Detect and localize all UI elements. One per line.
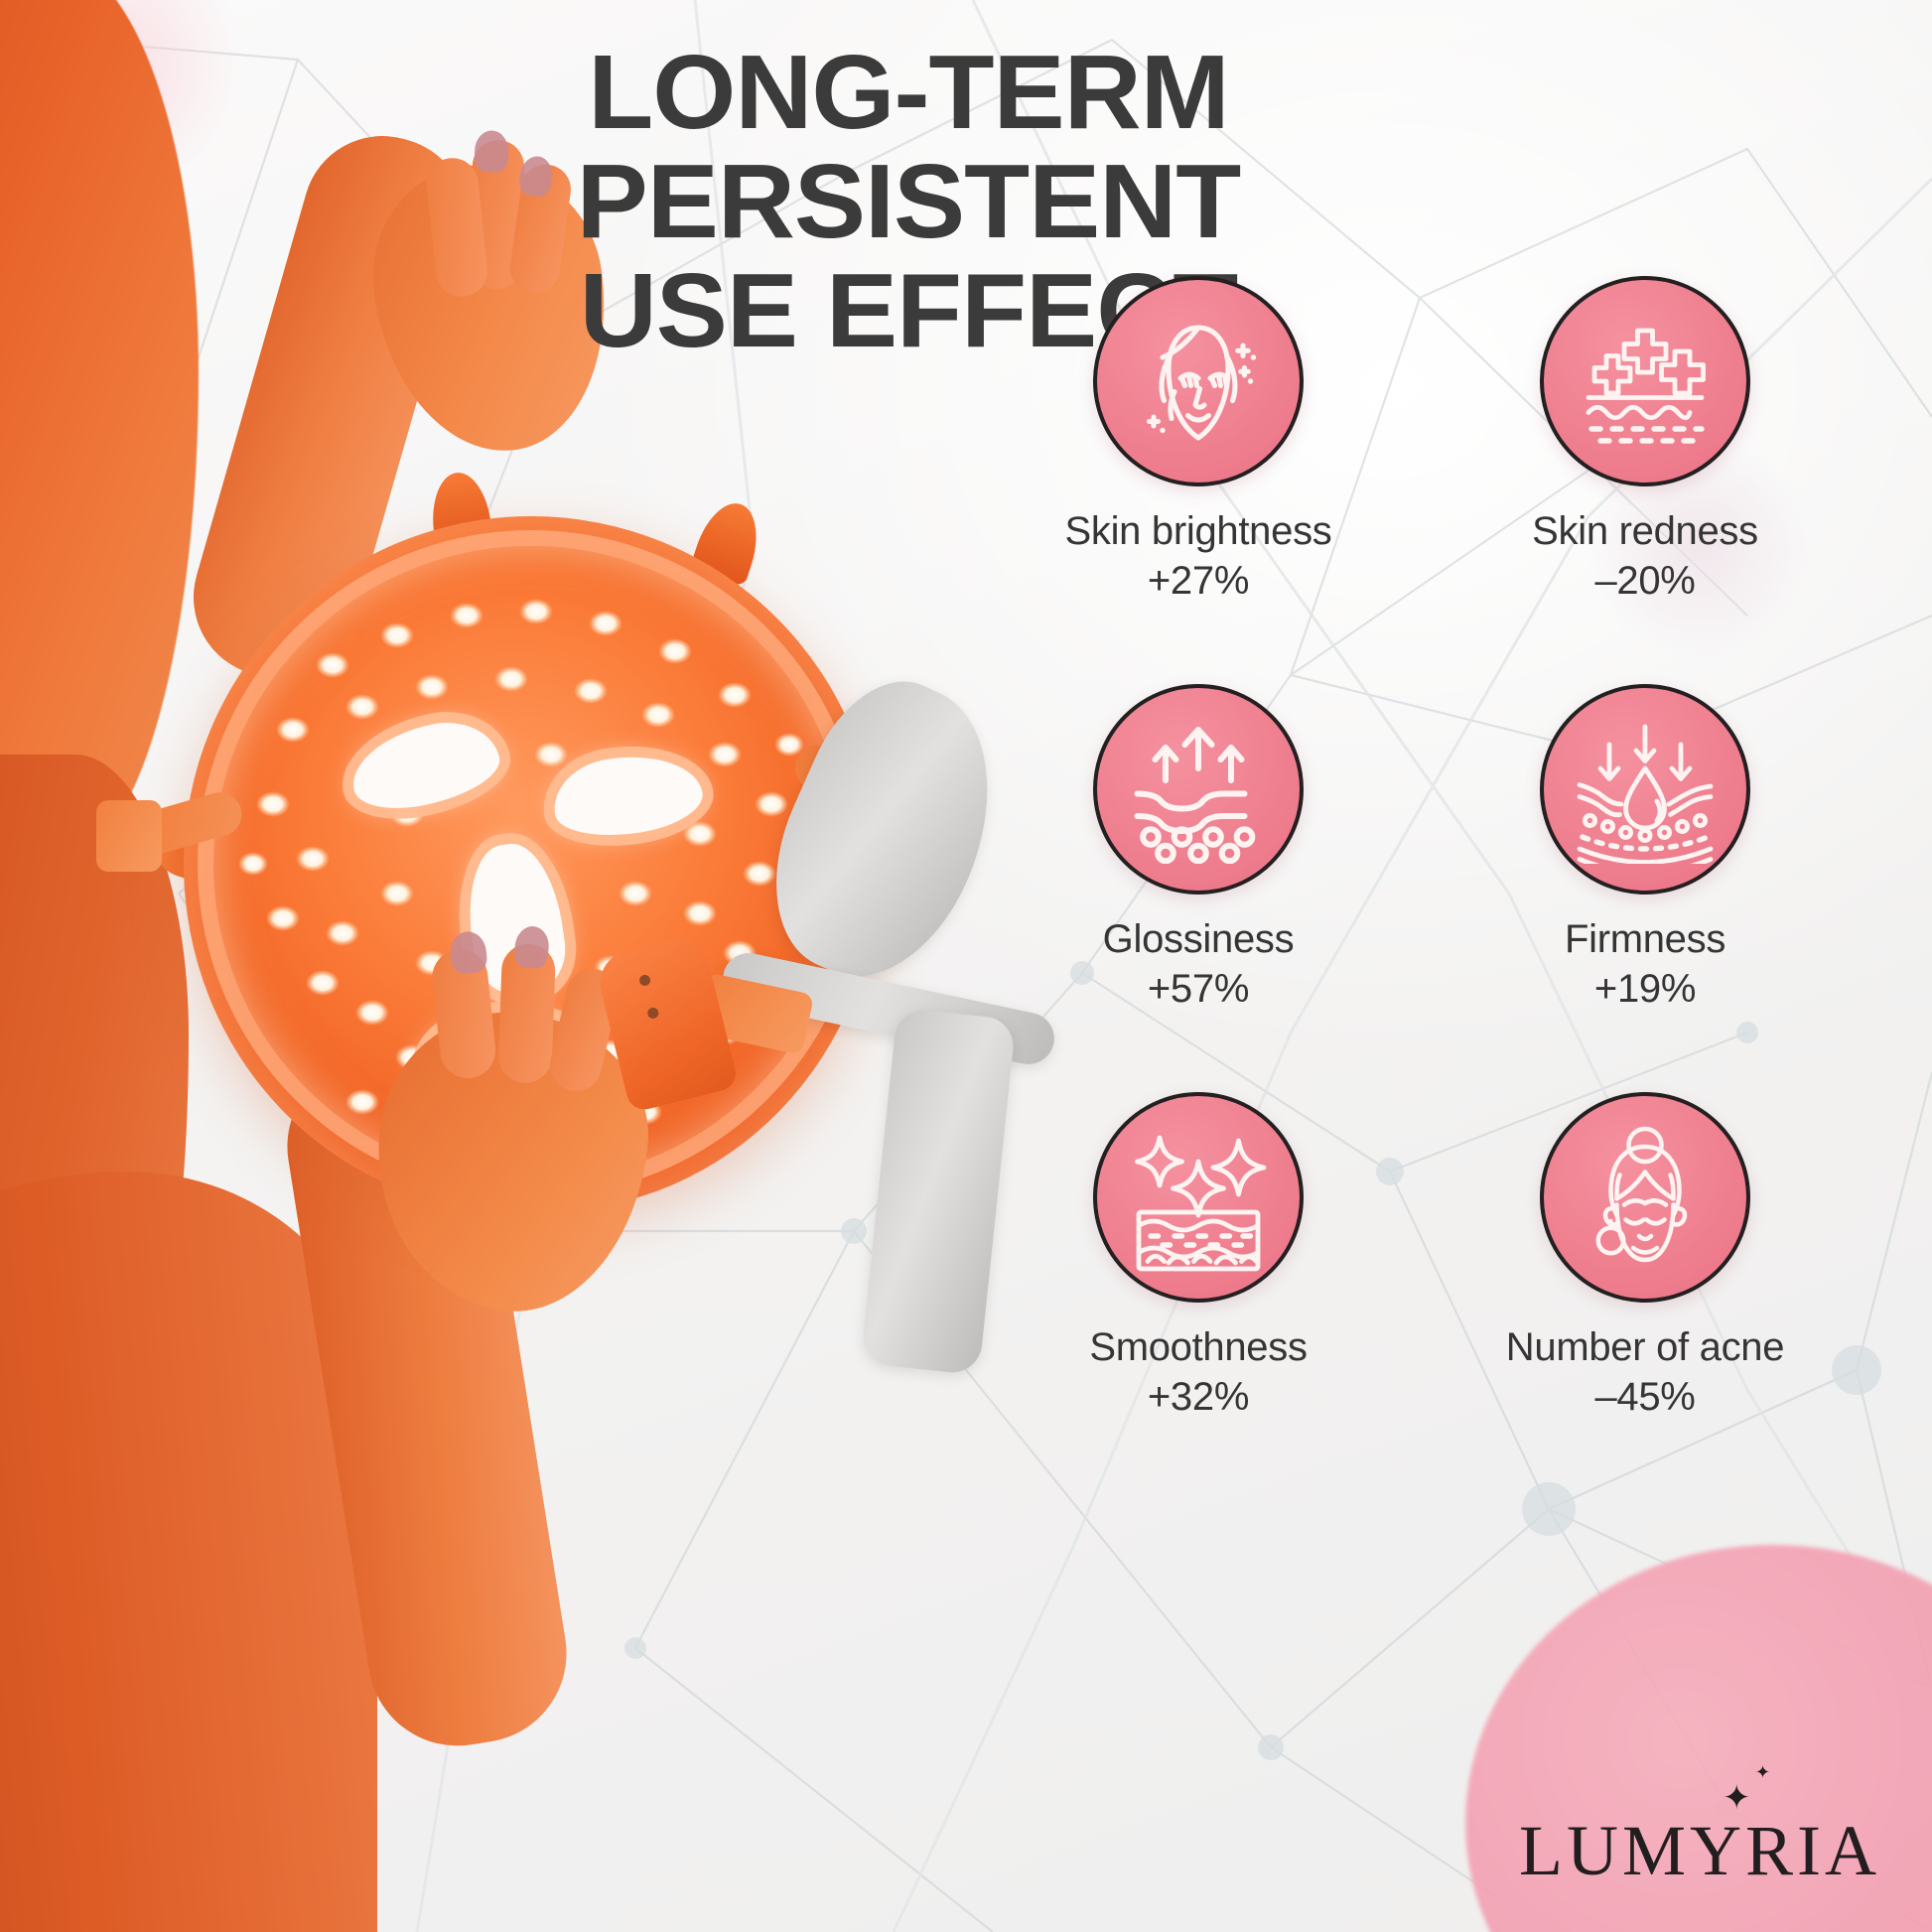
benefit-value: +57% [1103, 964, 1295, 1014]
benefit-label-text: Firmness [1565, 917, 1725, 961]
benefit-label: Number of acne –45% [1506, 1322, 1784, 1423]
firmness-droplet-icon [1540, 684, 1750, 895]
model-head [0, 0, 199, 854]
benefit-label: Smoothness +32% [1089, 1322, 1307, 1423]
mask-left-buckle [96, 800, 162, 872]
benefit-label-text: Skin brightness [1065, 509, 1332, 553]
product-infographic-poster: LONG-TERM PERSISTENT USE EFFECT [0, 0, 1932, 1932]
glossiness-arrows-icon [1093, 684, 1304, 895]
face-brightness-icon [1093, 276, 1304, 486]
benefit-label: Skin redness –20% [1532, 506, 1758, 607]
benefit-item-glossiness: Glossiness +57% [975, 684, 1422, 1015]
benefit-value: –45% [1506, 1372, 1784, 1422]
benefit-value: +27% [1065, 556, 1332, 606]
skin-redness-icon [1540, 276, 1750, 486]
title-line-1: LONG-TERM PERSISTENT [577, 34, 1241, 260]
benefit-item-skin-redness: Skin redness –20% [1422, 276, 1868, 607]
benefit-label: Firmness +19% [1565, 914, 1725, 1015]
benefit-item-smoothness: Smoothness +32% [975, 1092, 1422, 1423]
benefit-item-skin-brightness: Skin brightness +27% [975, 276, 1422, 607]
benefit-value: +19% [1565, 964, 1725, 1014]
acne-face-icon [1540, 1092, 1750, 1303]
benefit-label: Skin brightness +27% [1065, 506, 1332, 607]
benefit-item-number-of-acne: Number of acne –45% [1422, 1092, 1868, 1423]
benefit-value: –20% [1532, 556, 1758, 606]
benefit-label-text: Number of acne [1506, 1325, 1784, 1369]
sparkle-small-icon: ✦ [1755, 1763, 1770, 1781]
benefit-item-firmness: Firmness +19% [1422, 684, 1868, 1015]
benefit-label-text: Glossiness [1103, 917, 1295, 961]
benefits-grid: Skin brightness +27% [975, 276, 1868, 1422]
brand-name: LUMYRIA [1519, 1815, 1880, 1886]
benefit-label-text: Skin redness [1532, 509, 1758, 553]
smoothness-sparkle-icon [1093, 1092, 1304, 1303]
benefit-value: +32% [1089, 1372, 1307, 1422]
sparkle-icon: ✦ [1723, 1781, 1751, 1815]
brand-logo: LUMYRIA ✦ ✦ [1519, 1815, 1880, 1886]
benefit-label: Glossiness +57% [1103, 914, 1295, 1015]
benefit-label-text: Smoothness [1089, 1325, 1307, 1369]
